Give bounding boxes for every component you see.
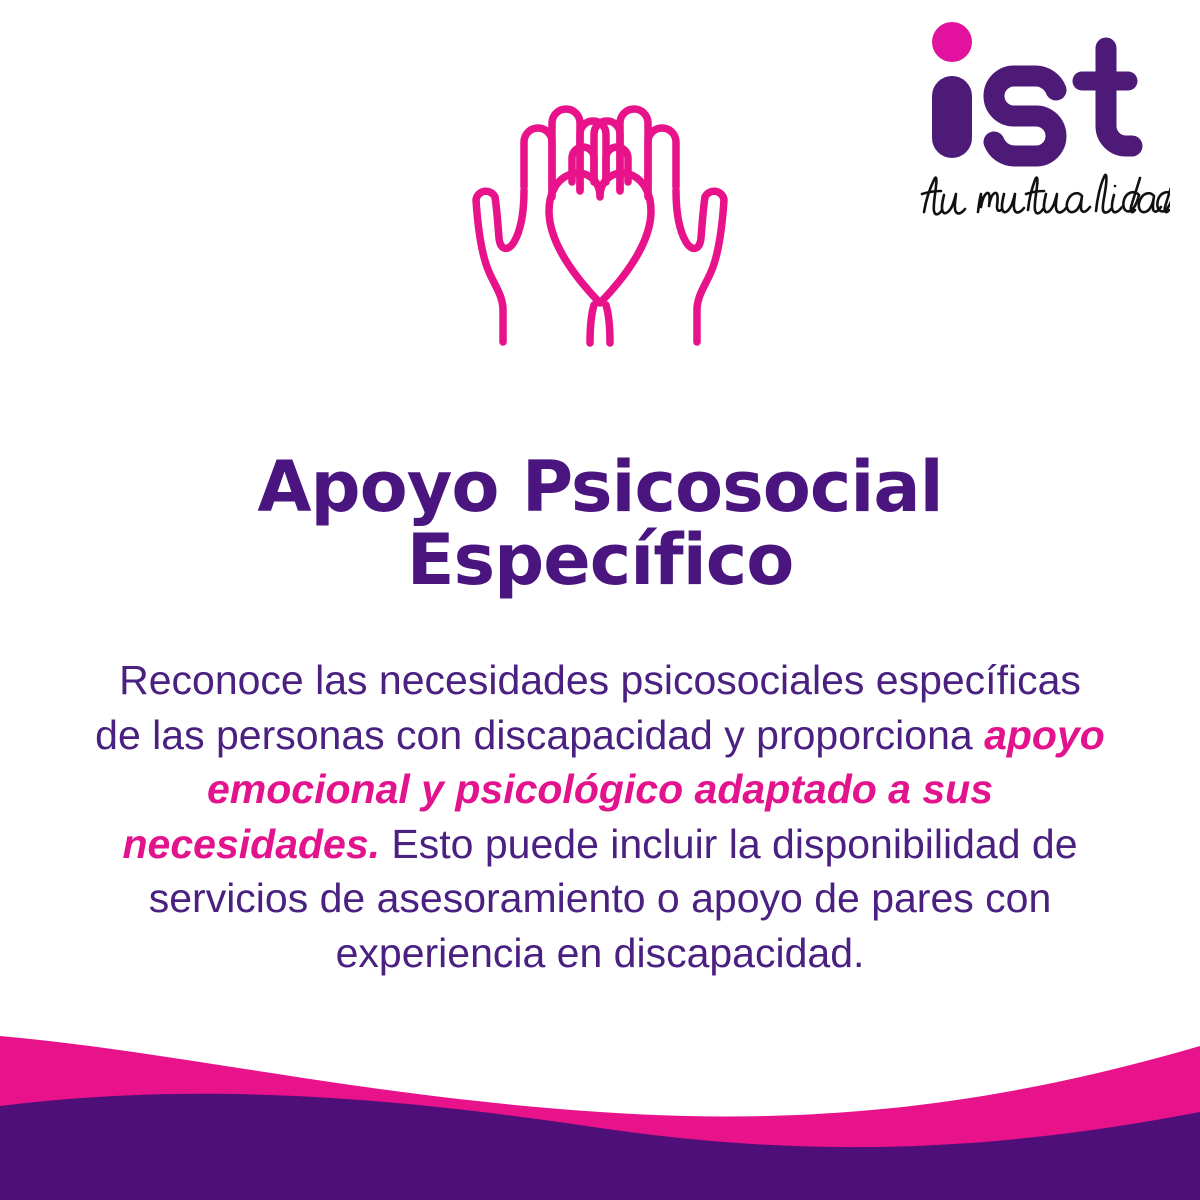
- bottom-wave-decoration: [0, 1000, 1200, 1200]
- page-title-line-2: Específico: [0, 524, 1200, 597]
- body-text-part-1: Reconoce las necesidades psicosociales e…: [95, 657, 1081, 758]
- page-title: Apoyo Psicosocial Específico: [0, 451, 1200, 597]
- brand-logo: [910, 18, 1170, 238]
- ist-wordmark-logo: [910, 18, 1170, 168]
- body-paragraph: Reconoce las necesidades psicosociales e…: [95, 653, 1105, 980]
- logo-dot-icon: [932, 22, 972, 62]
- hands-holding-heart-icon: [470, 82, 730, 352]
- logo-tagline-script: [910, 160, 1170, 240]
- page-title-line-1: Apoyo Psicosocial: [0, 451, 1200, 524]
- poster-canvas: Apoyo Psicosocial Específico Reconoce la…: [0, 0, 1200, 1200]
